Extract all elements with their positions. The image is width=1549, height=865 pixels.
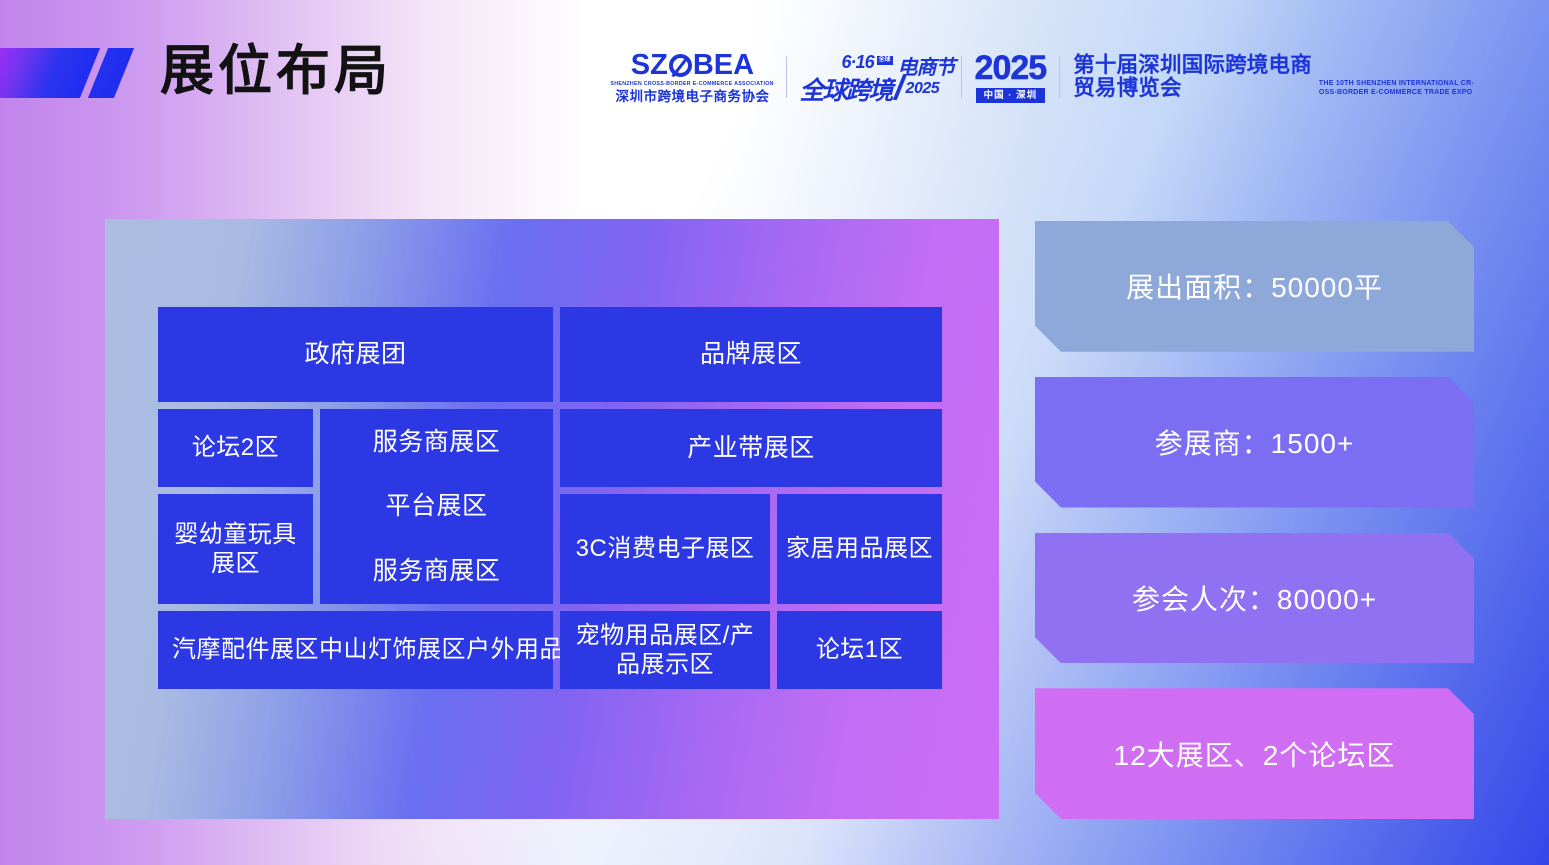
stats-column: 展出面积：50000平 参展商：1500+ 参会人次：80000+ 12大展区、… [1035,221,1474,819]
festival-year: 2025 [906,80,940,98]
szcbea-wordmark-post: BEA [693,51,754,80]
stat-card-exhibition-area[interactable]: 展出面积：50000平 [1035,221,1474,352]
festival-tag: 全球 [877,56,893,65]
o-slash-icon [669,54,692,77]
expo-name-english: THE 10TH SHENZHEN INTERNATIONAL CR- OSS-… [1319,80,1474,100]
stat-card-attendees[interactable]: 参会人次：80000+ [1035,533,1474,664]
logo-divider [961,56,962,98]
zone-row-3: 汽摩配件展区 中山灯饰展区 户外用品展区 宠物用品展区/产品展示区 论坛1区 [158,611,942,689]
stat-card-exhibitors[interactable]: 参展商：1500+ [1035,377,1474,508]
logo-divider [1059,56,1060,98]
expo-name-en-line2: OSS-BORDER E-COMMERCE TRADE EXPO [1319,89,1474,98]
zone-brand[interactable]: 品牌展区 [560,307,942,402]
page-title: 展位布局 [160,36,392,106]
zone-industry-belt[interactable]: 产业带展区 [560,409,942,487]
logo-616-festival: 6·16 全球 电商节 全球跨境 2025 [800,50,948,104]
title-accent-slashes-icon [0,48,140,98]
zone-home-goods[interactable]: 家居用品展区 [777,494,942,604]
zone-platform-and-service[interactable]: 服务商展区 平台展区 服务商展区 [320,409,553,604]
stat-card-zones-forums[interactable]: 12大展区、2个论坛区 [1035,688,1474,819]
zone-pet-products[interactable]: 宠物用品展区/产品展示区 [560,611,770,689]
zone-baby-toys[interactable]: 婴幼童玩具展区 [158,494,313,604]
expo-name-en-line1: THE 10TH SHENZHEN INTERNATIONAL CR- [1319,80,1474,89]
szcbea-chinese: 深圳市跨境电子商务协会 [615,90,769,104]
floorplan-panel: 政府展团 品牌展区 论坛2区 婴幼童玩具展区 服务商展区 平台展区 服务商展区 [105,219,999,819]
festival-number: 6·16 [842,52,874,73]
zone-strip-group[interactable]: 汽摩配件展区 中山灯饰展区 户外用品展区 [158,611,553,689]
logo-expo-name: 第十届深圳国际跨境电商 贸易博览会 THE 10TH SHENZHEN INTE… [1073,54,1474,100]
szcbea-english: SHENZHEN CROSS-BORDER E-COMMERCE ASSOCIA… [611,82,774,87]
zone-row-2-right-bottom: 3C消费电子展区 家居用品展区 [560,494,942,604]
zone-platform-label: 平台展区 [385,491,487,522]
zone-consumer-3c[interactable]: 3C消费电子展区 [560,494,770,604]
zone-row-2-right: 产业带展区 3C消费电子展区 家居用品展区 [560,409,942,604]
accent-slash-large-icon [0,48,100,98]
zone-service-provider-top: 服务商展区 [373,427,501,458]
expo-year-number: 2025 [975,51,1047,85]
zone-auto-parts[interactable]: 汽摩配件展区 [172,635,319,664]
zone-forum-2[interactable]: 论坛2区 [158,409,313,487]
szcbea-wordmark: SZ BEA [631,51,754,80]
expo-name-line2: 贸易博览会 [1073,77,1312,100]
zone-government[interactable]: 政府展团 [158,307,553,402]
zone-column-service: 服务商展区 平台展区 服务商展区 [320,409,553,604]
logo-expo-year: 2025 中国 · 深圳 [975,51,1047,103]
logo-divider [786,56,787,98]
zone-zhongshan-lighting[interactable]: 中山灯饰展区 [319,635,466,664]
logo-bar: SZ BEA SHENZHEN CROSS-BORDER E-COMMERCE … [612,48,1474,106]
slide-header: 展位布局 SZ BEA SHENZHEN CROSS-BORDER E-COMM… [0,0,1549,150]
szcbea-wordmark-pre: SZ [631,51,668,80]
logo-szcbea: SZ BEA SHENZHEN CROSS-BORDER E-COMMERCE … [612,51,772,104]
zone-row-2: 论坛2区 婴幼童玩具展区 服务商展区 平台展区 服务商展区 产业带展区 [158,409,942,604]
expo-year-location: 中国 · 深圳 [976,88,1045,103]
zone-grid: 政府展团 品牌展区 论坛2区 婴幼童玩具展区 服务商展区 平台展区 服务商展区 [158,307,942,734]
zone-row-1: 政府展团 品牌展区 [158,307,942,402]
zone-column-left: 论坛2区 婴幼童玩具展区 [158,409,313,604]
expo-name-chinese: 第十届深圳国际跨境电商 贸易博览会 [1073,54,1312,100]
zone-service-provider-bottom: 服务商展区 [373,556,501,587]
zone-forum-1[interactable]: 论坛1区 [777,611,942,689]
festival-subline: 全球跨境 [800,71,892,107]
expo-name-line1: 第十届深圳国际跨境电商 [1073,54,1312,77]
slide-canvas: 展位布局 SZ BEA SHENZHEN CROSS-BORDER E-COMM… [0,0,1549,865]
zone-row-2-left: 论坛2区 婴幼童玩具展区 服务商展区 平台展区 服务商展区 [158,409,553,604]
